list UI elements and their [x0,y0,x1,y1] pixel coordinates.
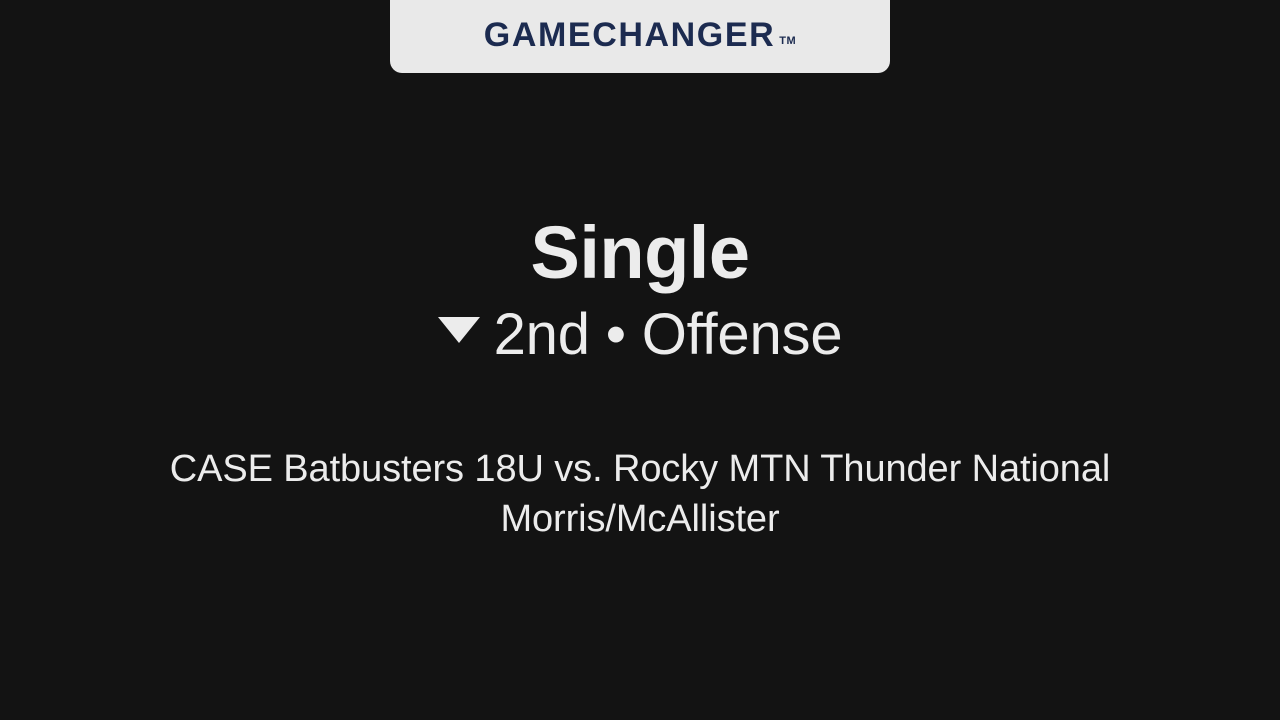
play-summary-card: Single 2nd • Offense CASE Batbusters 18U… [0,0,1280,720]
triangle-down-icon [438,317,480,343]
matchup-line-2: Morris/McAllister [500,498,779,540]
play-result-title: Single [530,215,749,290]
play-context-row: 2nd • Offense [438,305,843,366]
inning-and-side-label: 2nd • Offense [494,305,843,366]
video-overlay-screen: GAMECHANGER TM Single 2nd • Offense CASE… [0,0,1280,720]
game-matchup-label: CASE Batbusters 18U vs. Rocky MTN Thunde… [135,444,1145,545]
matchup-line-1: CASE Batbusters 18U vs. Rocky MTN Thunde… [170,448,1110,490]
